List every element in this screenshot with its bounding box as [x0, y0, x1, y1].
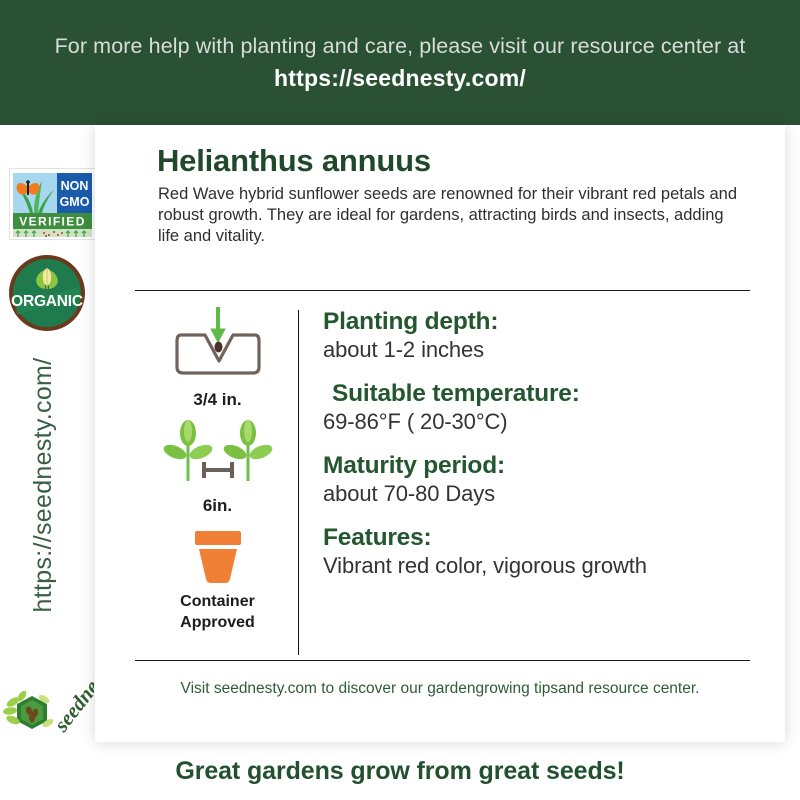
info-card: Helianthus annuus Red Wave hybrid sunflo… — [95, 125, 785, 742]
divider-top — [135, 290, 750, 291]
svg-text:VERIFIED: VERIFIED — [19, 215, 86, 229]
page-title: Helianthus annuus — [157, 143, 431, 179]
header-help-text: For more help with planting and care, pl… — [55, 34, 746, 59]
svg-text:seednesty: seednesty — [48, 665, 94, 737]
plant-spacing-icon — [159, 417, 277, 489]
spec-suitable-temperature-value: 69-86°F ( 20-30°C) — [323, 408, 753, 435]
spec-features: Features: Vibrant red color, vigorous gr… — [323, 524, 753, 579]
container-approved-block: Container Approved — [140, 523, 295, 632]
plant-spacing-caption: 6in. — [140, 496, 295, 515]
spec-features-value: Vibrant red color, vigorous growth — [323, 552, 753, 579]
card-footnote: Visit seednesty.com to discover our gard… — [95, 680, 785, 698]
spec-features-label: Features: — [323, 524, 753, 552]
container-pot-icon — [159, 523, 277, 585]
product-description: Red Wave hybrid sunflower seeds are reno… — [158, 184, 748, 247]
container-caption-line2: Approved — [140, 613, 295, 632]
spec-maturity-period: Maturity period: about 70-80 Days — [323, 452, 753, 507]
vertical-site-url[interactable]: https://seednesty.com/ — [23, 360, 63, 610]
container-caption-line1: Container — [140, 592, 295, 611]
planting-depth-icon — [159, 305, 277, 383]
bottom-tagline: Great gardens grow from great seeds! — [0, 742, 800, 800]
spec-maturity-period-value: about 70-80 Days — [323, 480, 753, 507]
spec-maturity-period-label: Maturity period: — [323, 452, 753, 480]
svg-text:ORGANIC: ORGANIC — [11, 293, 83, 310]
column-separator — [298, 310, 299, 655]
left-rail: NON GMO VERIFIED — [0, 125, 95, 800]
planting-depth-block: 3/4 in. — [140, 305, 295, 409]
spec-planting-depth-label: Planting depth: — [323, 308, 753, 336]
spec-planting-depth: Planting depth: about 1-2 inches — [323, 308, 753, 363]
planting-depth-caption: 3/4 in. — [140, 390, 295, 409]
spec-suitable-temperature: Suitable temperature: 69-86°F ( 20-30°C) — [323, 380, 753, 435]
spec-suitable-temperature-label: Suitable temperature: — [323, 380, 753, 408]
seed-packet: For more help with planting and care, pl… — [0, 0, 800, 800]
non-gmo-verified-badge: NON GMO VERIFIED — [9, 168, 96, 240]
spec-column: Planting depth: about 1-2 inches Suitabl… — [323, 308, 753, 596]
plant-spacing-block: 6in. — [140, 417, 295, 515]
header-banner: For more help with planting and care, pl… — [0, 0, 800, 125]
organic-badge: ORGANIC — [7, 253, 87, 333]
spec-planting-depth-value: about 1-2 inches — [323, 336, 753, 363]
svg-text:GMO: GMO — [60, 195, 90, 209]
icon-column: 3/4 in. — [140, 305, 295, 632]
header-url-link[interactable]: https://seednesty.com/ — [274, 65, 526, 92]
svg-text:NON: NON — [61, 179, 89, 193]
divider-bottom — [135, 660, 750, 661]
